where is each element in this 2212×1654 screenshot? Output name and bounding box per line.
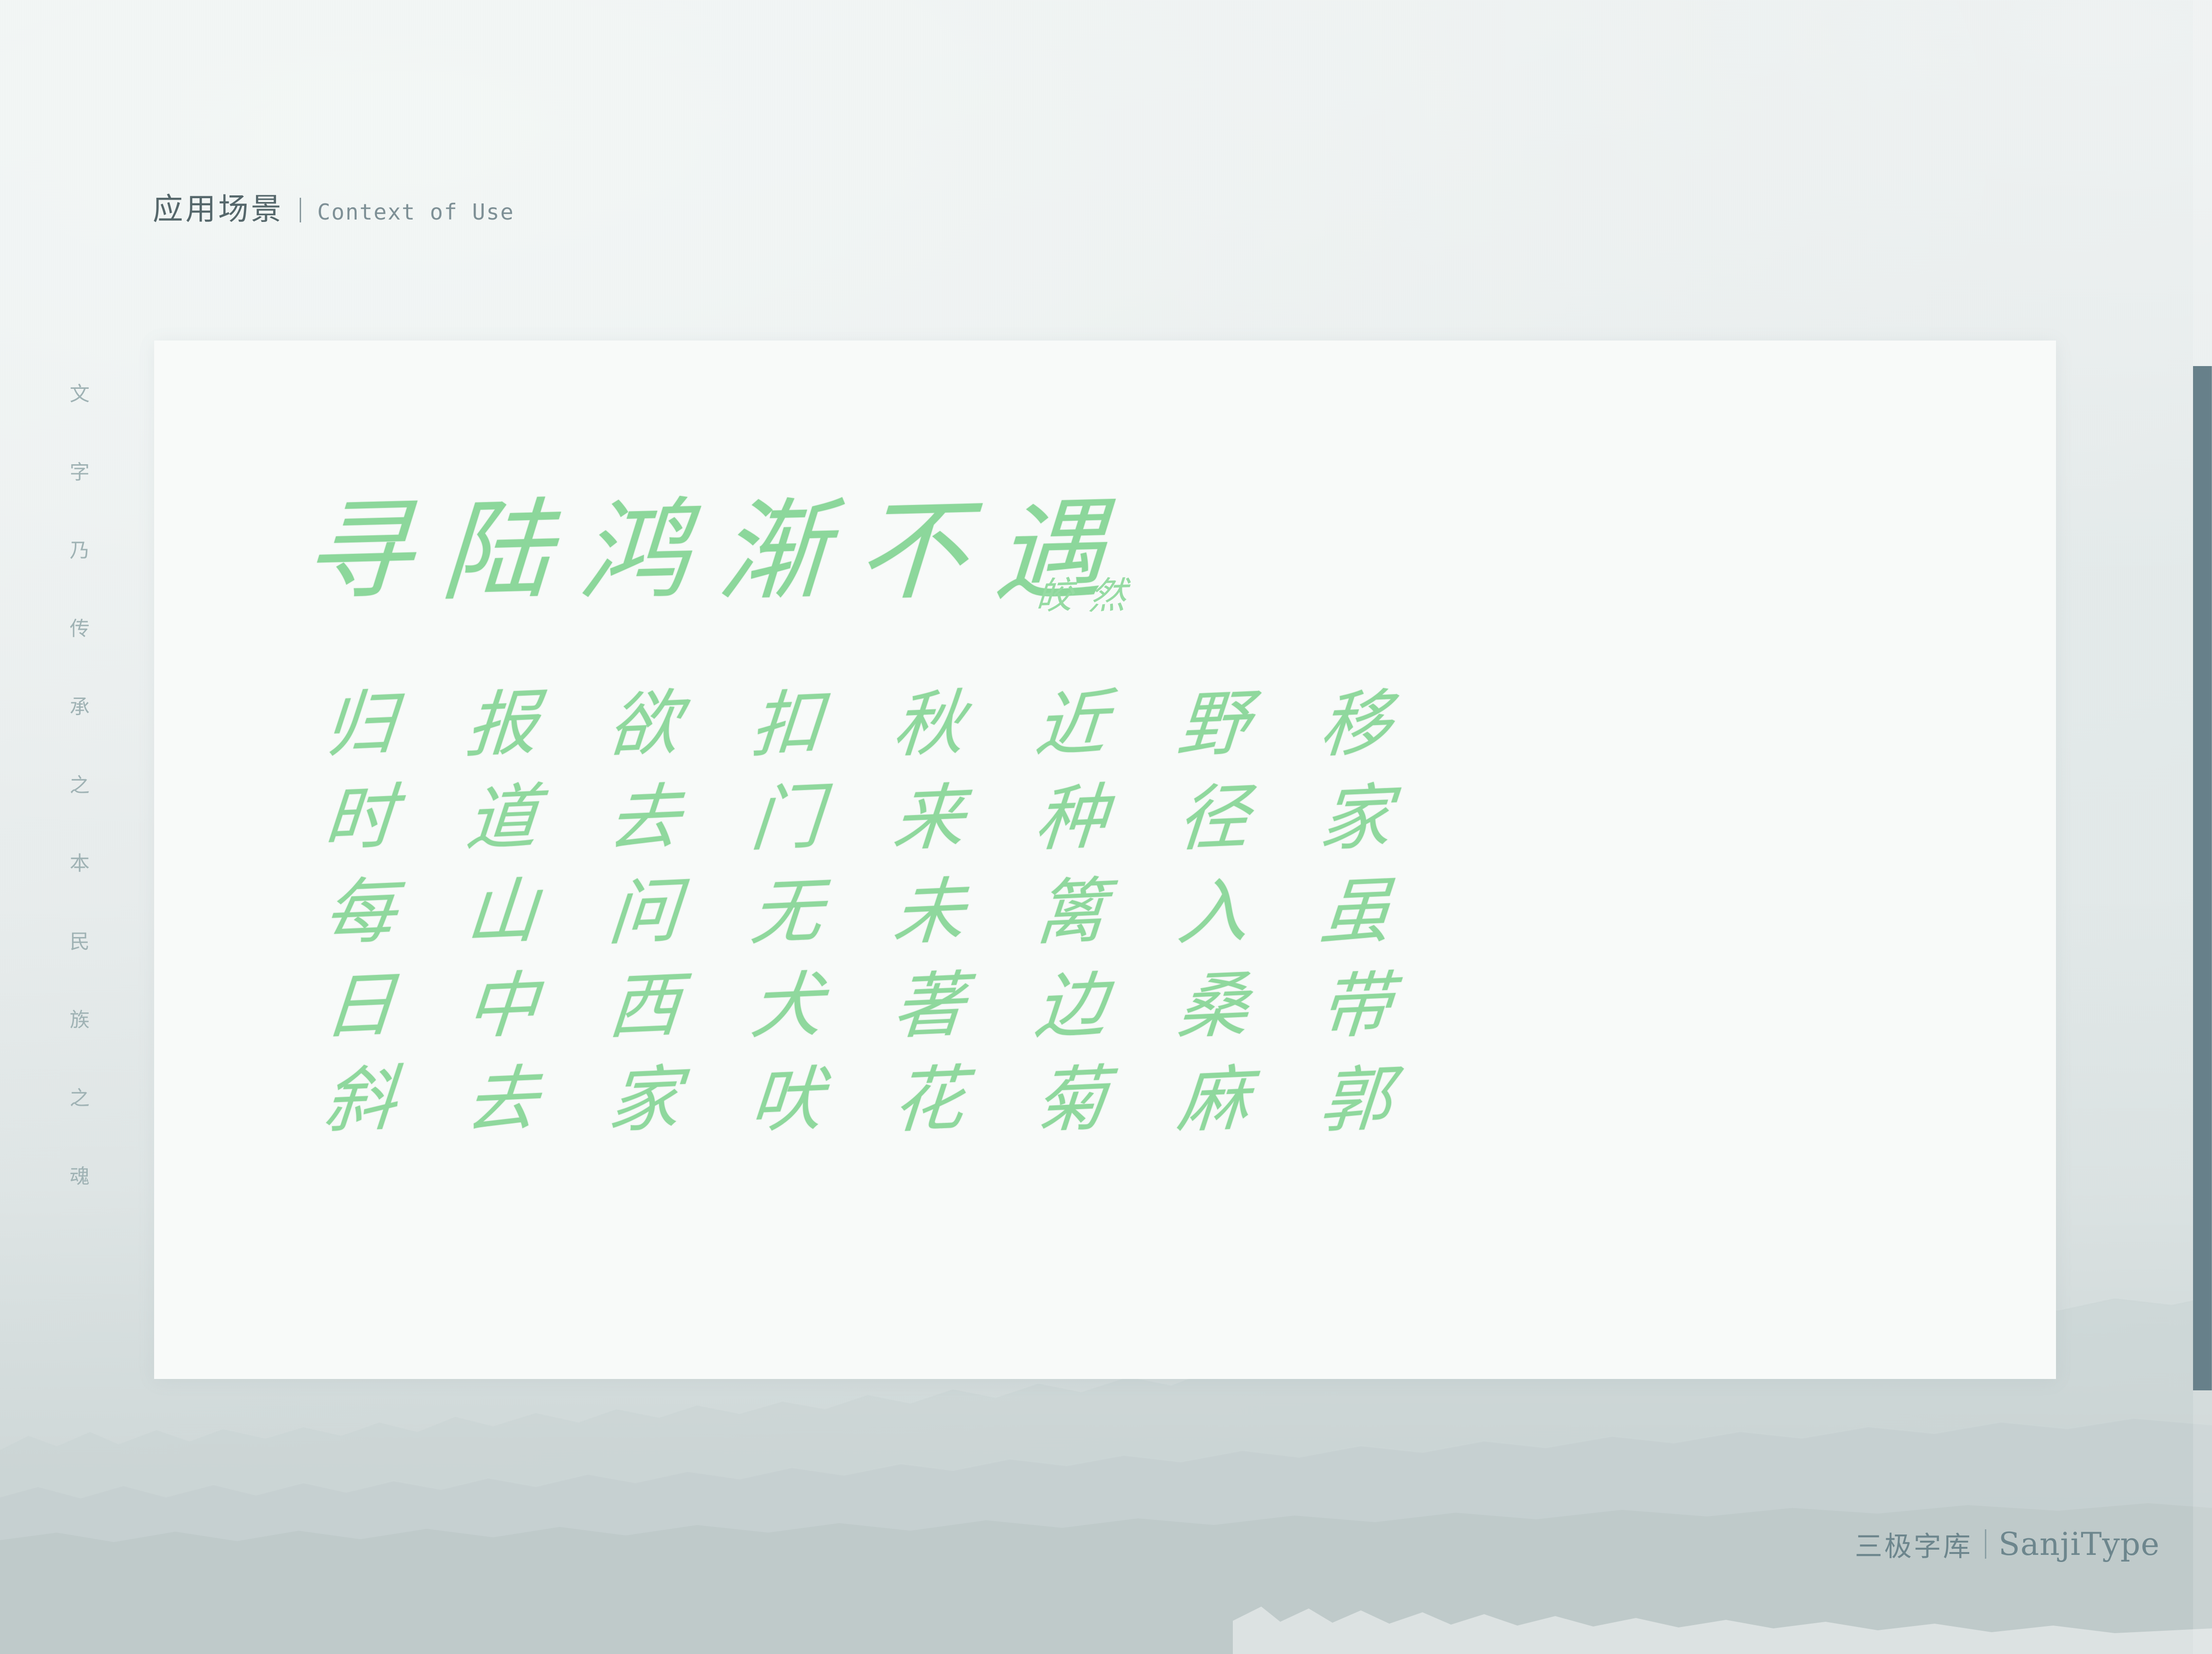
poem-char: 移 [1315, 688, 1394, 784]
poem-title-char: 渐 [716, 500, 831, 604]
poem-title-char: 鸿 [577, 500, 692, 604]
poem-char: 山 [462, 875, 541, 972]
poem-column: 野 径 入 桑 麻 [1141, 689, 1284, 1158]
poem-char: 报 [462, 688, 541, 784]
poem-char: 去 [604, 781, 683, 878]
poem-char: 桑 [1173, 969, 1252, 1066]
tagline-char: 之 [70, 775, 90, 795]
tagline-char: 文 [70, 384, 90, 404]
poem-author-char: 然 [1088, 577, 1128, 616]
poem-char: 斜 [320, 1063, 398, 1160]
specimen-page: 应用场景 Context of Use 文 字 乃 传 承 之 本 民 族 之 … [0, 0, 2212, 1654]
poem-char: 日 [320, 969, 398, 1066]
poem-char: 近 [1031, 688, 1110, 784]
page-title-zh: 应用场景 [153, 185, 284, 229]
vertical-tagline: 文 字 乃 传 承 之 本 民 族 之 魂 [61, 384, 99, 1186]
poem-char: 时 [320, 781, 398, 878]
tagline-char: 传 [70, 619, 90, 639]
poem-char: 欲 [604, 688, 683, 784]
poem-char: 门 [746, 781, 825, 878]
poem-body: 移 家 虽 带 郭 野 径 入 桑 麻 近 种 篱 边 菊 秋 [288, 689, 1426, 1158]
scrollbar-track[interactable] [2193, 0, 2212, 1654]
poem-char: 中 [462, 969, 541, 1066]
poem-char: 每 [320, 875, 398, 972]
poem-char: 带 [1315, 969, 1394, 1066]
poem-char: 秋 [889, 688, 967, 784]
poem-char: 扣 [746, 688, 825, 784]
poem-char: 家 [1315, 781, 1394, 878]
poem-title: 寻 陆 鸿 渐 不 遇 [303, 502, 1105, 602]
poem-char: 著 [889, 969, 967, 1066]
poem-char: 未 [889, 875, 967, 972]
poem-char: 去 [462, 1063, 541, 1160]
poem-column: 秋 来 未 著 花 [857, 689, 999, 1158]
tagline-char: 族 [70, 1010, 90, 1030]
brand-name-en: SanjiType [1999, 1526, 2160, 1562]
poem-char: 边 [1031, 969, 1110, 1066]
poem-column: 移 家 虽 带 郭 [1284, 689, 1426, 1158]
poem-column: 欲 去 问 西 家 [572, 689, 715, 1158]
poem-char: 虽 [1315, 875, 1394, 972]
poem-char: 道 [462, 781, 541, 878]
tagline-char: 承 [70, 697, 90, 717]
poem-char: 花 [889, 1063, 967, 1160]
brand-name-zh: 三极字库 [1855, 1524, 1973, 1564]
tagline-char: 民 [70, 932, 90, 952]
poem-char: 问 [604, 875, 683, 972]
poem-column: 归 时 每 日 斜 [288, 689, 430, 1158]
page-title-en: Context of Use [317, 199, 514, 225]
poem-char: 来 [889, 781, 967, 878]
poem-char: 种 [1031, 781, 1110, 878]
poem-column: 报 道 山 中 去 [430, 689, 572, 1158]
tagline-char: 乃 [70, 541, 90, 561]
brand-footer: 三极字库 SanjiType [1855, 1524, 2160, 1564]
tagline-char: 魂 [70, 1167, 90, 1186]
poem-char: 犬 [746, 969, 825, 1066]
poem-column: 扣 门 无 犬 吠 [715, 689, 857, 1158]
poem-author-char: 皎 [1035, 577, 1074, 616]
poem-column: 近 种 篱 边 菊 [999, 689, 1141, 1158]
page-header: 应用场景 Context of Use [153, 185, 514, 229]
specimen-card: 寻 陆 鸿 渐 不 遇 皎 然 移 家 虽 带 郭 野 径 入 桑 [154, 340, 2056, 1379]
tagline-char: 字 [70, 462, 90, 482]
poem-char: 径 [1173, 781, 1252, 878]
poem-char: 野 [1173, 688, 1252, 784]
header-divider [300, 198, 301, 222]
brand-divider [1985, 1529, 1986, 1559]
poem-char: 麻 [1173, 1063, 1252, 1160]
poem-char: 西 [604, 969, 683, 1066]
poem-char: 归 [320, 688, 398, 784]
tagline-char: 之 [70, 1088, 90, 1108]
poem-char: 菊 [1031, 1063, 1110, 1160]
tagline-char: 本 [70, 854, 90, 873]
poem-char: 篱 [1031, 875, 1110, 972]
poem-title-char: 陆 [439, 500, 554, 604]
scrollbar-thumb[interactable] [2193, 366, 2212, 1390]
poem-char: 家 [604, 1063, 683, 1160]
poem-title-char: 寻 [300, 500, 415, 604]
poem-char: 郭 [1315, 1063, 1394, 1160]
poem-char: 无 [746, 875, 825, 972]
poem-title-char: 不 [854, 500, 969, 604]
poem-char: 入 [1173, 875, 1252, 972]
poem-char: 吠 [746, 1063, 825, 1160]
poem-author: 皎 然 [1036, 578, 1126, 615]
